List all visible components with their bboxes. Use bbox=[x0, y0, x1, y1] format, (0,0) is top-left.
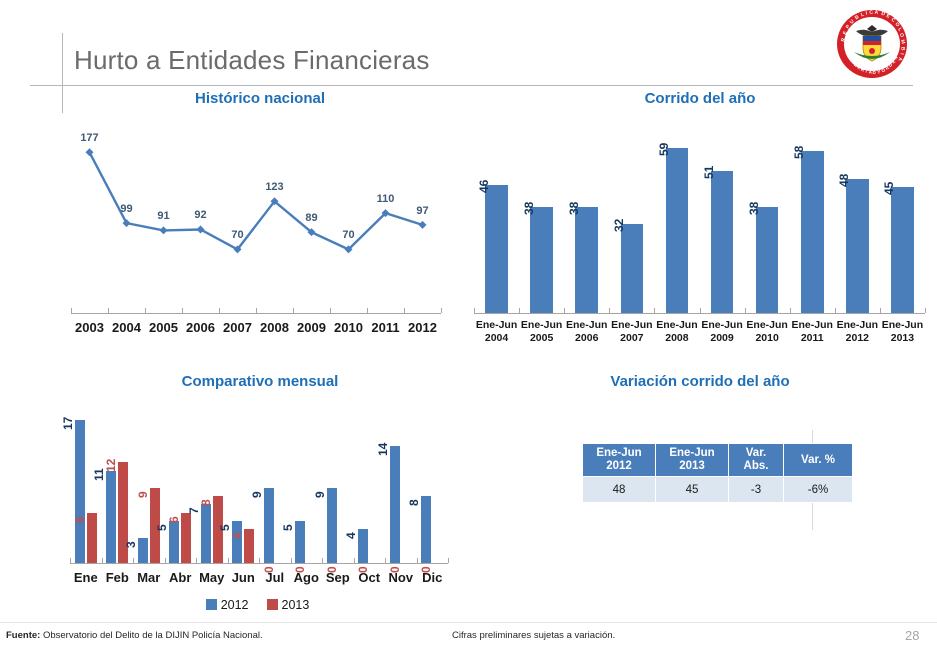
axis-tick bbox=[219, 308, 220, 313]
axis-tick bbox=[108, 308, 109, 313]
legend-swatch-icon bbox=[267, 599, 278, 610]
axis-label-group: Ene-Jun2007 bbox=[609, 319, 654, 345]
historico-nacional-line-chart: 2003200420052006200720082009201020112012… bbox=[60, 120, 450, 320]
data-label: 89 bbox=[292, 212, 332, 224]
chart-title-historico: Histórico nacional bbox=[100, 90, 420, 107]
axis-label-period: Ene-Jun bbox=[745, 319, 790, 332]
data-label: 91 bbox=[144, 210, 184, 222]
axis-label-Ene: Ene bbox=[70, 570, 102, 585]
axis-tick bbox=[790, 308, 791, 313]
page-title: Hurto a Entidades Financieras bbox=[74, 45, 430, 76]
axis-tick bbox=[70, 558, 71, 563]
bar-2012-Abr bbox=[169, 521, 179, 563]
axis-label-group: Ene-Jun2005 bbox=[519, 319, 564, 345]
bar-Ene-Jun-2012 bbox=[846, 179, 869, 313]
bar-2012-Ene bbox=[75, 420, 85, 563]
data-label-2012: 7 bbox=[187, 508, 201, 515]
data-label-2013: 9 bbox=[136, 491, 150, 498]
bar-2012-Jun bbox=[232, 521, 242, 563]
comparativo-x-axis bbox=[70, 563, 448, 564]
data-label: 38 bbox=[522, 202, 536, 215]
historico-x-axis bbox=[71, 313, 441, 314]
data-label: 99 bbox=[107, 203, 147, 215]
axis-label-2012: 2012 bbox=[401, 320, 445, 335]
axis-label-period: Ene-Jun bbox=[880, 319, 925, 332]
historico-marker bbox=[160, 226, 168, 234]
data-label-2013: 4 bbox=[230, 533, 244, 540]
footer-source-label: Fuente: bbox=[6, 630, 40, 641]
axis-tick bbox=[448, 558, 449, 563]
axis-label-Nov: Nov bbox=[385, 570, 417, 585]
escudo-republica-de-colombia-icon: R E P U B L I C A D E C O L O M B I A bbox=[836, 8, 908, 80]
data-label: 97 bbox=[403, 205, 443, 217]
bar-Ene-Jun-2011 bbox=[801, 151, 824, 313]
data-label-2012: 14 bbox=[376, 442, 390, 455]
axis-label-Mar: Mar bbox=[133, 570, 165, 585]
comparativo-legend: 20122013 bbox=[60, 598, 455, 612]
cell-var-abs: -3 bbox=[729, 477, 784, 503]
axis-label-year: 2007 bbox=[609, 332, 654, 345]
data-label-2013: 8 bbox=[199, 499, 213, 506]
data-label: 123 bbox=[255, 181, 295, 193]
chart-title-variacion: Variación corrido del año bbox=[540, 373, 860, 390]
axis-tick bbox=[519, 308, 520, 313]
axis-tick bbox=[293, 308, 294, 313]
data-label: 48 bbox=[837, 174, 851, 187]
axis-tick bbox=[609, 308, 610, 313]
bar-2012-Sep bbox=[327, 488, 337, 564]
data-label: 58 bbox=[792, 146, 806, 159]
footer-rule bbox=[0, 622, 937, 623]
axis-label-Feb: Feb bbox=[102, 570, 134, 585]
bar-2012-Feb bbox=[106, 471, 116, 563]
axis-label-group: Ene-Jun2013 bbox=[880, 319, 925, 345]
table-header-ene-jun-2012: Ene-Jun 2012 bbox=[583, 444, 656, 477]
data-label-2012: 17 bbox=[61, 417, 75, 430]
data-label: 51 bbox=[702, 165, 716, 178]
axis-label-period: Ene-Jun bbox=[474, 319, 519, 332]
bar-2012-Jul bbox=[264, 488, 274, 564]
data-label: 70 bbox=[218, 229, 258, 241]
footer-source: Fuente: Observatorio del Delito de la DI… bbox=[6, 630, 263, 641]
axis-label-period: Ene-Jun bbox=[654, 319, 699, 332]
axis-label-group: Ene-Jun2010 bbox=[745, 319, 790, 345]
table-header-var-pct: Var. % bbox=[784, 444, 853, 477]
variacion-table: Ene-Jun 2012 Ene-Jun 2013 Var. Abs. Var.… bbox=[582, 443, 853, 503]
axis-tick bbox=[228, 558, 229, 563]
axis-label-year: 2011 bbox=[790, 332, 835, 345]
axis-label-period: Ene-Jun bbox=[609, 319, 654, 332]
data-label: 59 bbox=[657, 143, 671, 156]
data-label-2012: 5 bbox=[218, 524, 232, 531]
bar-2012-Mar bbox=[138, 538, 148, 563]
data-label: 70 bbox=[329, 229, 369, 241]
axis-tick bbox=[564, 308, 565, 313]
footer-note: Cifras preliminares sujetas a variación. bbox=[452, 630, 615, 641]
axis-tick bbox=[145, 308, 146, 313]
footer-source-text: Observatorio del Delito de la DIJIN Poli… bbox=[40, 630, 262, 641]
axis-label-period: Ene-Jun bbox=[700, 319, 745, 332]
legend-item-2012: 2012 bbox=[206, 598, 249, 612]
cell-ene-jun-2012: 48 bbox=[583, 477, 656, 503]
axis-label-group: Ene-Jun2012 bbox=[835, 319, 880, 345]
axis-label-Jul: Jul bbox=[259, 570, 291, 585]
axis-label-period: Ene-Jun bbox=[790, 319, 835, 332]
axis-tick bbox=[322, 558, 323, 563]
data-label-2012: 9 bbox=[250, 491, 264, 498]
axis-label-May: May bbox=[196, 570, 228, 585]
axis-tick bbox=[196, 558, 197, 563]
data-label-2012: 9 bbox=[313, 491, 327, 498]
axis-tick bbox=[385, 558, 386, 563]
axis-label-period: Ene-Jun bbox=[835, 319, 880, 332]
axis-tick bbox=[330, 308, 331, 313]
bar-Ene-Jun-2009 bbox=[711, 171, 734, 313]
bar-Ene-Jun-2010 bbox=[756, 207, 779, 313]
axis-tick bbox=[102, 558, 103, 563]
axis-tick bbox=[745, 308, 746, 313]
bar-2013-Ene bbox=[87, 513, 97, 563]
axis-tick bbox=[354, 558, 355, 563]
axis-tick bbox=[165, 558, 166, 563]
axis-label-group: Ene-Jun2009 bbox=[700, 319, 745, 345]
bar-Ene-Jun-2007 bbox=[621, 224, 644, 313]
bar-2012-Oct bbox=[358, 529, 368, 563]
axis-label-Oct: Oct bbox=[354, 570, 386, 585]
axis-tick bbox=[291, 558, 292, 563]
axis-tick bbox=[880, 308, 881, 313]
axis-label-Jun: Jun bbox=[228, 570, 260, 585]
axis-label-year: 2012 bbox=[835, 332, 880, 345]
data-label: 32 bbox=[612, 218, 626, 231]
axis-label-year: 2005 bbox=[519, 332, 564, 345]
legend-label: 2013 bbox=[282, 598, 310, 612]
table-row: 48 45 -3 -6% bbox=[583, 477, 853, 503]
axis-label-group: Ene-Jun2008 bbox=[654, 319, 699, 345]
bar-2012-Dic bbox=[421, 496, 431, 563]
axis-label-period: Ene-Jun bbox=[564, 319, 609, 332]
data-label-2013: 6 bbox=[167, 516, 181, 523]
axis-label-year: 2006 bbox=[564, 332, 609, 345]
data-label: 38 bbox=[747, 202, 761, 215]
bar-Ene-Jun-2008 bbox=[666, 148, 689, 313]
data-label-2013: 6 bbox=[73, 516, 87, 523]
comparativo-mensual-bar-chart: 1761112395678549050904014080 EneFebMarAb… bbox=[60, 400, 455, 615]
axis-label-group: Ene-Jun2004 bbox=[474, 319, 519, 345]
legend-item-2013: 2013 bbox=[267, 598, 310, 612]
axis-label-group: Ene-Jun2011 bbox=[790, 319, 835, 345]
data-label-2012: 4 bbox=[344, 533, 358, 540]
axis-label-Abr: Abr bbox=[165, 570, 197, 585]
axis-label-Dic: Dic bbox=[417, 570, 449, 585]
axis-tick bbox=[71, 308, 72, 313]
data-label: 46 bbox=[477, 179, 491, 192]
historico-marker bbox=[86, 148, 94, 156]
bar-Ene-Jun-2006 bbox=[575, 207, 598, 313]
axis-label-year: 2013 bbox=[880, 332, 925, 345]
chart-title-corrido: Corrido del año bbox=[540, 90, 860, 107]
axis-tick bbox=[700, 308, 701, 313]
cell-var-pct: -6% bbox=[784, 477, 853, 503]
legend-swatch-icon bbox=[206, 599, 217, 610]
data-label: 38 bbox=[567, 202, 581, 215]
axis-tick bbox=[133, 558, 134, 563]
axis-tick bbox=[925, 308, 926, 313]
slide: Hurto a Entidades Financieras R E bbox=[0, 0, 937, 654]
header-vertical-rule bbox=[62, 33, 63, 113]
axis-label-year: 2004 bbox=[474, 332, 519, 345]
axis-label-Ago: Ago bbox=[291, 570, 323, 585]
axis-tick bbox=[654, 308, 655, 313]
historico-marker bbox=[419, 221, 427, 229]
axis-tick bbox=[835, 308, 836, 313]
axis-label-year: 2009 bbox=[700, 332, 745, 345]
data-label-2012: 5 bbox=[155, 524, 169, 531]
data-label: 92 bbox=[181, 209, 221, 221]
corrido-del-ano-bar-chart: 46383832595138584845 Ene-Jun2004Ene-Jun2… bbox=[470, 120, 930, 335]
axis-label-year: 2010 bbox=[745, 332, 790, 345]
page-number: 28 bbox=[905, 628, 919, 643]
historico-line-svg bbox=[60, 120, 450, 320]
axis-label-year: 2008 bbox=[654, 332, 699, 345]
bar-2012-Nov bbox=[390, 446, 400, 563]
data-label: 45 bbox=[882, 182, 896, 195]
cell-ene-jun-2013: 45 bbox=[656, 477, 729, 503]
table-header-ene-jun-2013: Ene-Jun 2013 bbox=[656, 444, 729, 477]
data-label-2012: 3 bbox=[124, 541, 138, 548]
header-horizontal-rule bbox=[30, 85, 913, 86]
chart-title-comparativo: Comparativo mensual bbox=[100, 373, 420, 390]
axis-tick bbox=[256, 308, 257, 313]
bar-2013-Abr bbox=[181, 513, 191, 563]
axis-tick bbox=[404, 308, 405, 313]
bar-2013-Jun bbox=[244, 529, 254, 563]
data-label-2012: 8 bbox=[407, 499, 421, 506]
bar-Ene-Jun-2013 bbox=[891, 187, 914, 313]
axis-tick bbox=[259, 558, 260, 563]
data-label: 110 bbox=[366, 193, 406, 205]
axis-tick bbox=[441, 308, 442, 313]
bar-2012-May bbox=[201, 504, 211, 563]
axis-label-group: Ene-Jun2006 bbox=[564, 319, 609, 345]
axis-label-period: Ene-Jun bbox=[519, 319, 564, 332]
table-header-row: Ene-Jun 2012 Ene-Jun 2013 Var. Abs. Var.… bbox=[583, 444, 853, 477]
axis-tick bbox=[417, 558, 418, 563]
bar-2012-Ago bbox=[295, 521, 305, 563]
axis-tick bbox=[182, 308, 183, 313]
bar-Ene-Jun-2005 bbox=[530, 207, 553, 313]
axis-tick bbox=[474, 308, 475, 313]
bar-Ene-Jun-2004 bbox=[485, 185, 508, 313]
data-label-2013: 12 bbox=[104, 459, 118, 472]
table-header-var-abs: Var. Abs. bbox=[729, 444, 784, 477]
data-label-2012: 5 bbox=[281, 524, 295, 531]
data-label: 177 bbox=[70, 132, 110, 144]
corrido-x-axis bbox=[474, 313, 925, 314]
axis-tick bbox=[367, 308, 368, 313]
axis-label-Sep: Sep bbox=[322, 570, 354, 585]
legend-label: 2012 bbox=[221, 598, 249, 612]
